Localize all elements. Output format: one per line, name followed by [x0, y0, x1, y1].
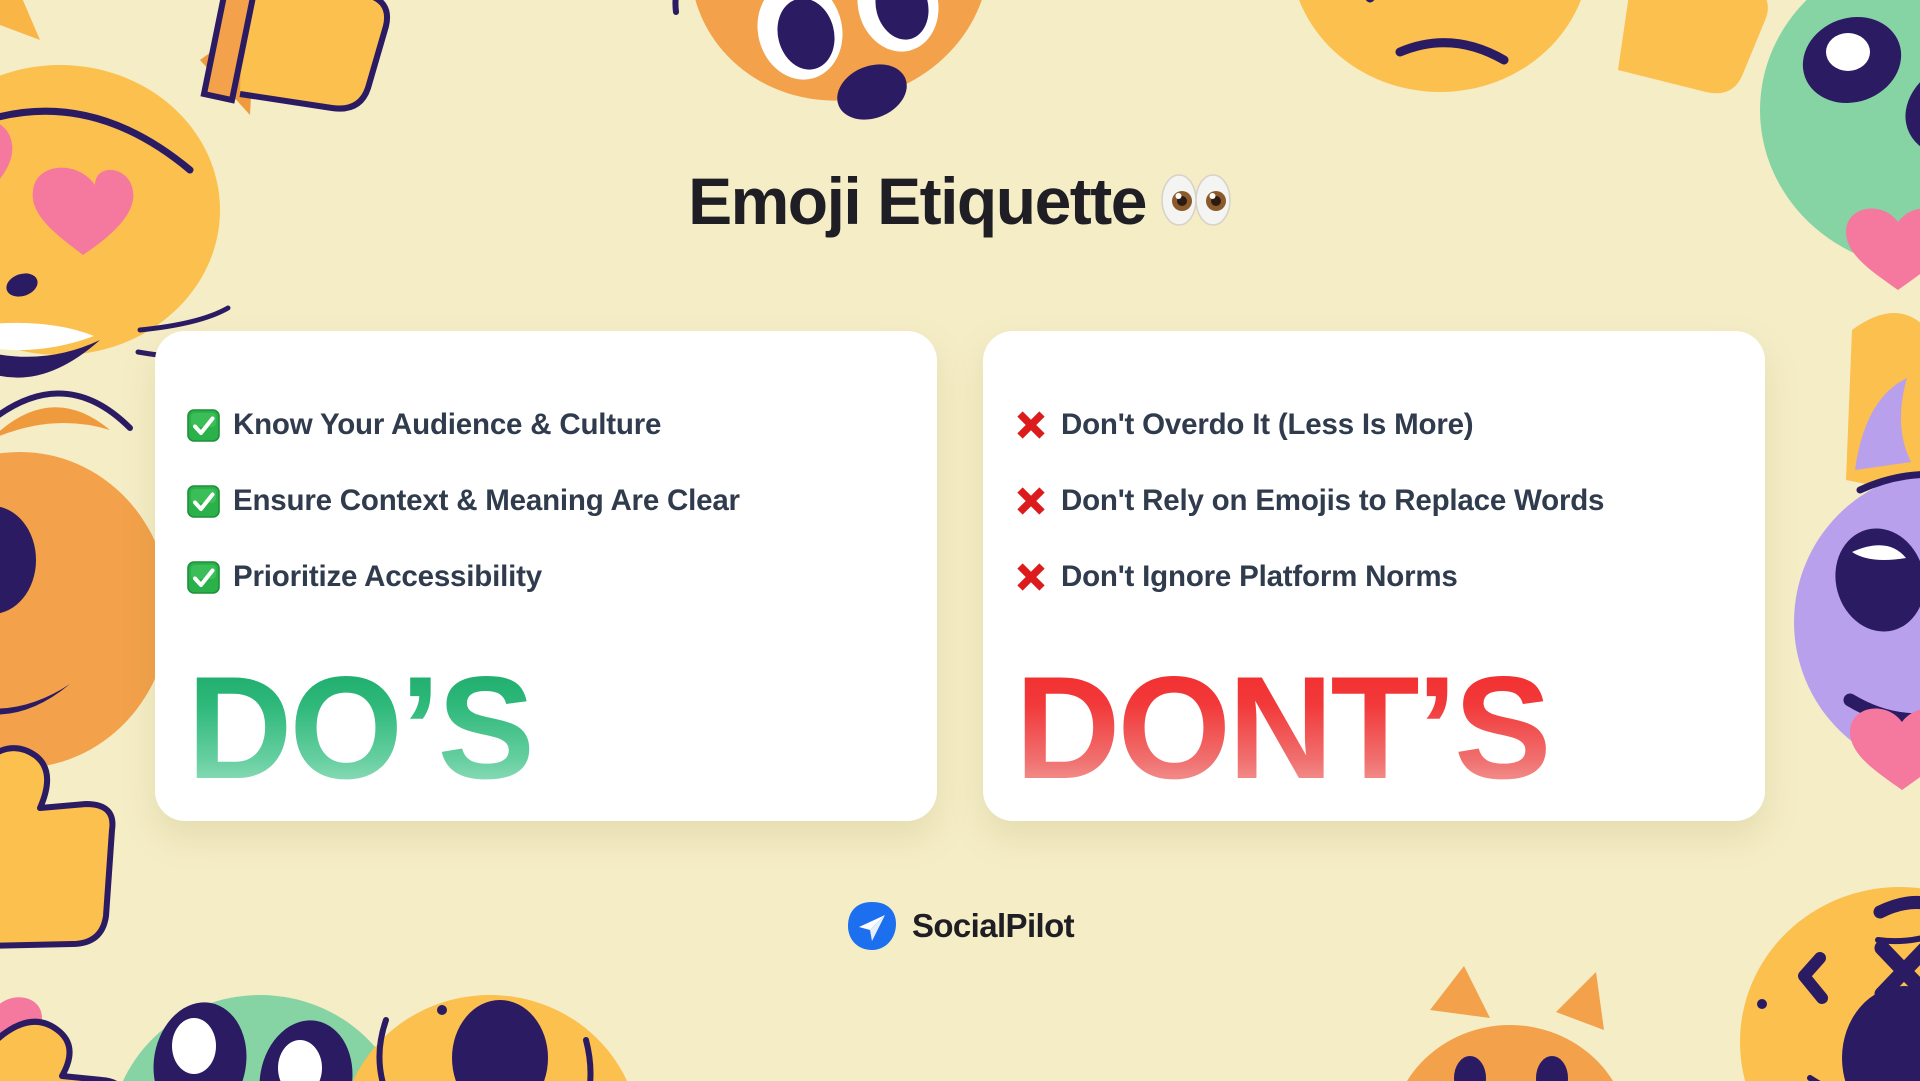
- check-mark-button-icon: [187, 409, 233, 442]
- list-item-label: Don't Overdo It (Less Is More): [1061, 408, 1473, 442]
- list-item: Don't Overdo It (Less Is More): [983, 387, 1765, 463]
- brand-name: SocialPilot: [912, 907, 1074, 945]
- donts-list: Don't Overdo It (Less Is More) Don't Rel…: [983, 387, 1765, 615]
- list-item-label: Ensure Context & Meaning Are Clear: [233, 484, 740, 518]
- brand-footer: SocialPilot: [0, 900, 1920, 952]
- page-title-text: Emoji Etiquette: [688, 164, 1146, 238]
- list-item-label: Prioritize Accessibility: [233, 560, 542, 594]
- list-item-label: Don't Rely on Emojis to Replace Words: [1061, 484, 1604, 518]
- poster-stage: Emoji Etiquette: [0, 0, 1920, 1081]
- donts-heading-word: DONT’S: [1015, 655, 1549, 801]
- donts-card: Don't Overdo It (Less Is More) Don't Rel…: [983, 331, 1765, 821]
- list-item-label: Know Your Audience & Culture: [233, 408, 661, 442]
- cross-mark-icon: [1015, 485, 1061, 517]
- list-item-label: Don't Ignore Platform Norms: [1061, 560, 1458, 594]
- dos-list: Know Your Audience & Culture Ensure Cont…: [155, 387, 937, 615]
- page-title: Emoji Etiquette: [0, 168, 1920, 236]
- list-item: Know Your Audience & Culture: [155, 387, 937, 463]
- check-mark-button-icon: [187, 561, 233, 594]
- list-item: Don't Ignore Platform Norms: [983, 539, 1765, 615]
- list-item: Don't Rely on Emojis to Replace Words: [983, 463, 1765, 539]
- check-mark-button-icon: [187, 485, 233, 518]
- list-item: Prioritize Accessibility: [155, 539, 937, 615]
- cross-mark-icon: [1015, 561, 1061, 593]
- socialpilot-logo-icon: [846, 900, 898, 952]
- cards-row: Know Your Audience & Culture Ensure Cont…: [155, 331, 1765, 821]
- dos-heading-word: DO’S: [187, 655, 532, 801]
- cross-mark-icon: [1015, 409, 1061, 441]
- dos-card: Know Your Audience & Culture Ensure Cont…: [155, 331, 937, 821]
- list-item: Ensure Context & Meaning Are Clear: [155, 463, 937, 539]
- eyes-icon: [1160, 170, 1232, 236]
